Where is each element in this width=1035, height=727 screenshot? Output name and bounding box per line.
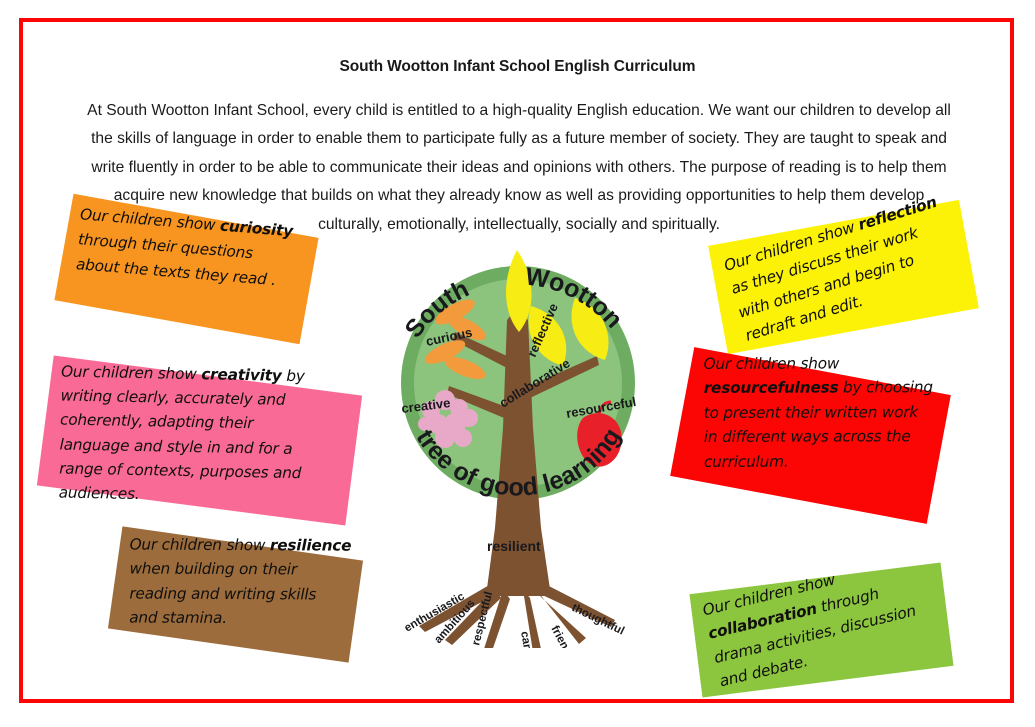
logo-label-resilient: resilient: [487, 538, 541, 554]
blossom-6: [460, 409, 478, 427]
blossom-8: [454, 429, 472, 447]
note-resourcefulness-text: Our children show resourcefulness by cho…: [704, 351, 954, 474]
note-resilience-text: Our children show resilience when buildi…: [129, 532, 380, 631]
page-title: South Wootton Infant School English Curr…: [0, 58, 1035, 76]
note-creativity: Our children show creativity by writing …: [37, 356, 362, 526]
tree-of-good-learning-logo: South Wootton tree of good learning curi…: [383, 228, 653, 648]
note-creativity-text: Our children show creativity by writing …: [58, 360, 361, 511]
